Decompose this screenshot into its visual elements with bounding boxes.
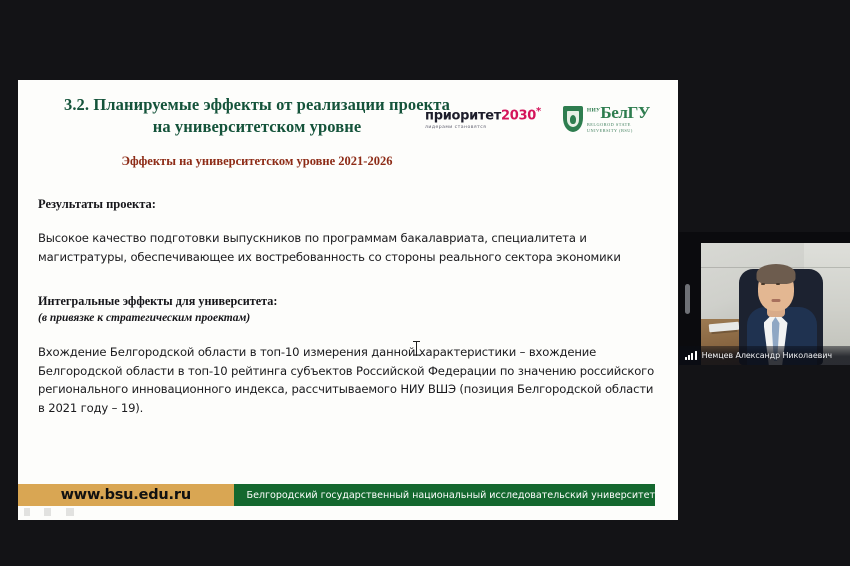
slide-content-area: приоритет2030* лидерами становятся НИУБе… <box>18 80 678 484</box>
bsu-logo-prefix: НИУ <box>587 107 601 113</box>
person-eye-left <box>761 283 765 285</box>
results-heading: Результаты проекта: <box>38 197 658 212</box>
participant-name-label: Немцев Александр Николаевич <box>679 346 850 365</box>
slide-body-content: Результаты проекта: Высокое качество под… <box>38 197 658 417</box>
participant-video-tile[interactable]: Немцев Александр Николаевич <box>679 232 850 365</box>
prioritet-logo-tagline: лидерами становятся <box>425 126 541 131</box>
spacer-2 <box>38 324 658 343</box>
prioritet-logo-year: 2030 <box>501 109 536 124</box>
slide-footer: www.bsu.edu.ru Белгородский государствен… <box>18 484 655 506</box>
bsu-logo-text: НИУБелГУ BELGOROD STATE UNIVERSITY (BSU) <box>587 104 650 134</box>
prioritet-2030-logo: приоритет2030* лидерами становятся <box>425 107 541 130</box>
bsu-logo-english-1: BELGOROD STATE <box>587 123 650 127</box>
person-eye-right <box>776 283 780 285</box>
footer-artifacts <box>22 508 222 516</box>
effects-text: Вхождение Белгородской области в топ-10 … <box>38 343 658 417</box>
prioritet-logo-star: * <box>536 106 541 117</box>
slide-logos: приоритет2030* лидерами становятся НИУБе… <box>425 104 650 134</box>
slide-header: приоритет2030* лидерами становятся НИУБе… <box>38 94 658 169</box>
slide-title: 3.2. Планируемые эффекты от реализации п… <box>42 94 472 138</box>
shield-icon <box>563 106 583 132</box>
signal-bars-icon <box>685 351 697 360</box>
meeting-screen: приоритет2030* лидерами становятся НИУБе… <box>0 0 850 566</box>
effects-heading: Интегральные эффекты для университета: <box>38 294 658 309</box>
shared-slide[interactable]: приоритет2030* лидерами становятся НИУБе… <box>18 80 678 520</box>
slide-title-line-2: на университетском уровне <box>42 116 472 138</box>
effects-subheading: (в привязке к стратегическим проектам) <box>38 312 658 324</box>
footer-website-url: www.bsu.edu.ru <box>18 484 234 506</box>
bsu-logo: НИУБелГУ BELGOROD STATE UNIVERSITY (BSU) <box>563 104 650 134</box>
bsu-logo-english-2: UNIVERSITY (BSU) <box>587 129 650 133</box>
slide-title-line-1: 3.2. Планируемые эффекты от реализации п… <box>64 95 450 114</box>
tile-drag-handle[interactable] <box>685 284 690 314</box>
spacer-1 <box>38 266 658 294</box>
person-mouth <box>771 299 780 302</box>
bsu-logo-name: БелГУ <box>600 103 650 122</box>
participant-name: Немцев Александр Николаевич <box>702 351 832 360</box>
prioritet-logo-name: приоритет <box>425 109 501 124</box>
prioritet-logo-wordmark: приоритет2030* <box>425 107 541 122</box>
slide-subtitle: Эффекты на университетском уровне 2021-2… <box>42 154 472 169</box>
bsu-logo-wordmark: НИУБелГУ <box>587 104 650 121</box>
results-text: Высокое качество подготовки выпускников … <box>38 229 658 266</box>
person-hair <box>756 264 795 284</box>
footer-institution-name: Белгородский государственный национальны… <box>234 484 655 506</box>
